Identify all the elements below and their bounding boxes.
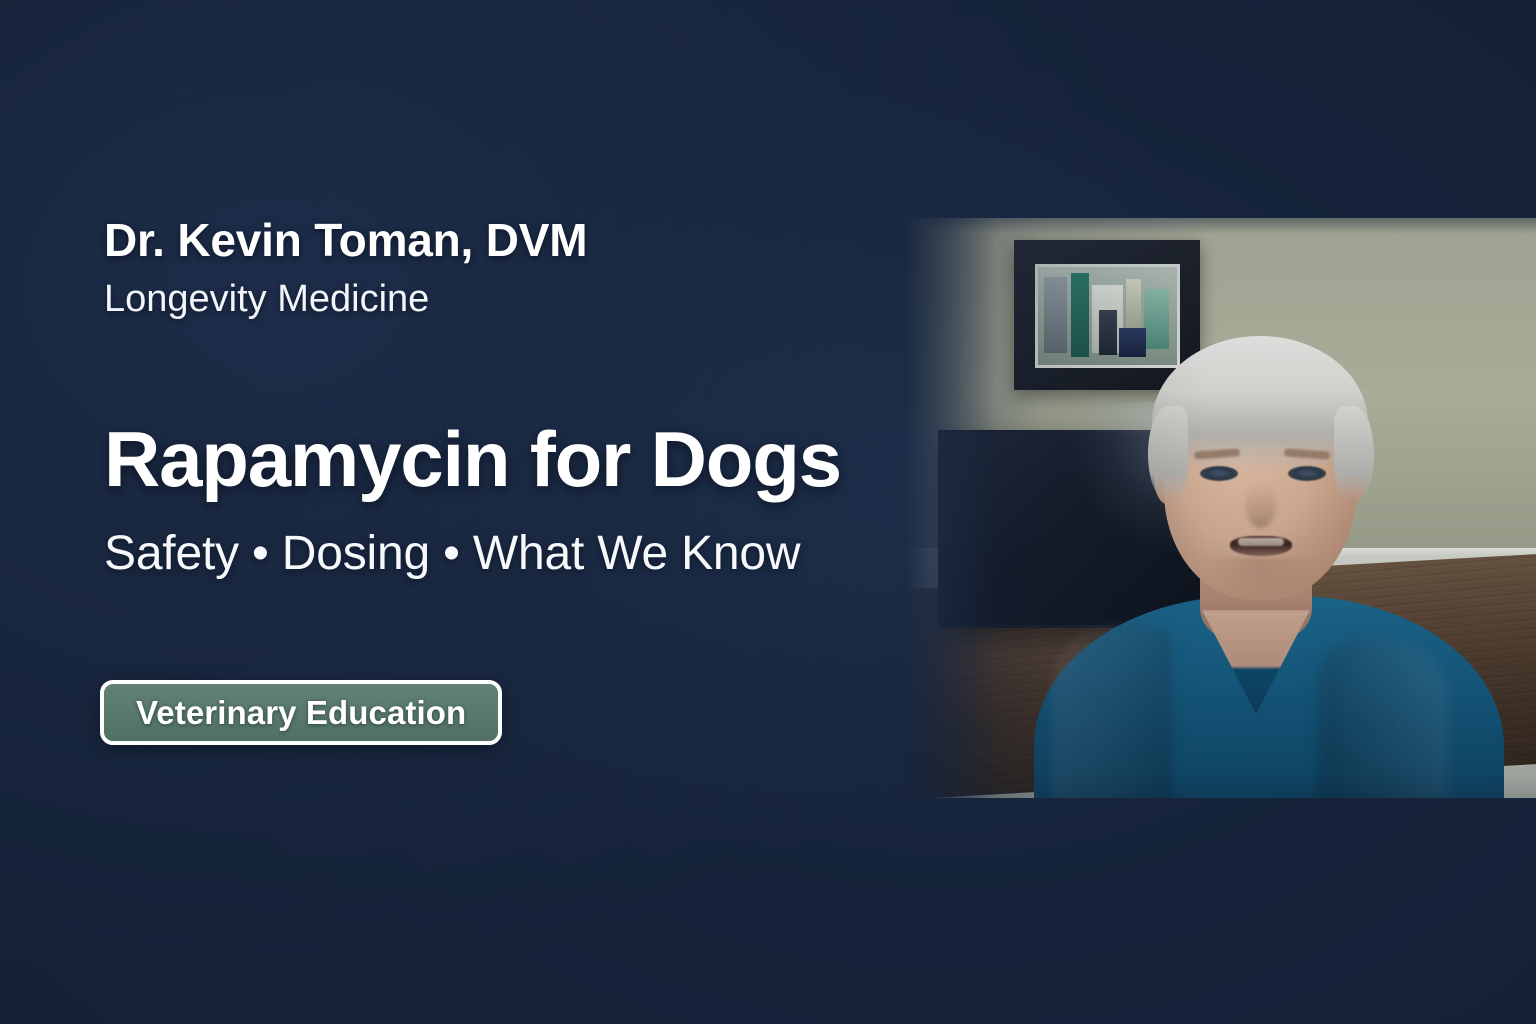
title-text-block: Dr. Kevin Toman, DVM Longevity Medicine … [104,216,904,580]
presenter-name: Dr. Kevin Toman, DVM [104,216,904,265]
hair-side-right [1334,406,1374,502]
title-slide: Dr. Kevin Toman, DVM Longevity Medicine … [0,0,1536,1024]
page-subtitle: Safety • Dosing • What We Know [104,529,904,579]
presenter-role: Longevity Medicine [104,279,904,320]
hair-side-left [1148,406,1188,502]
badge-container: Veterinary Education [100,680,502,745]
chin-shadow [1202,558,1318,604]
eye-right [1288,466,1326,481]
teeth [1238,538,1284,546]
badge-label: Veterinary Education [136,694,466,732]
status-badge[interactable]: Veterinary Education [100,680,502,745]
page-title: Rapamycin for Dogs [104,420,904,500]
presenter-video[interactable] [904,218,1536,798]
scrubs-fold [1052,626,1172,798]
eye-left [1200,466,1238,481]
presenter-figure [988,310,1536,798]
nose [1246,482,1276,528]
scrubs-fold [1318,640,1448,798]
